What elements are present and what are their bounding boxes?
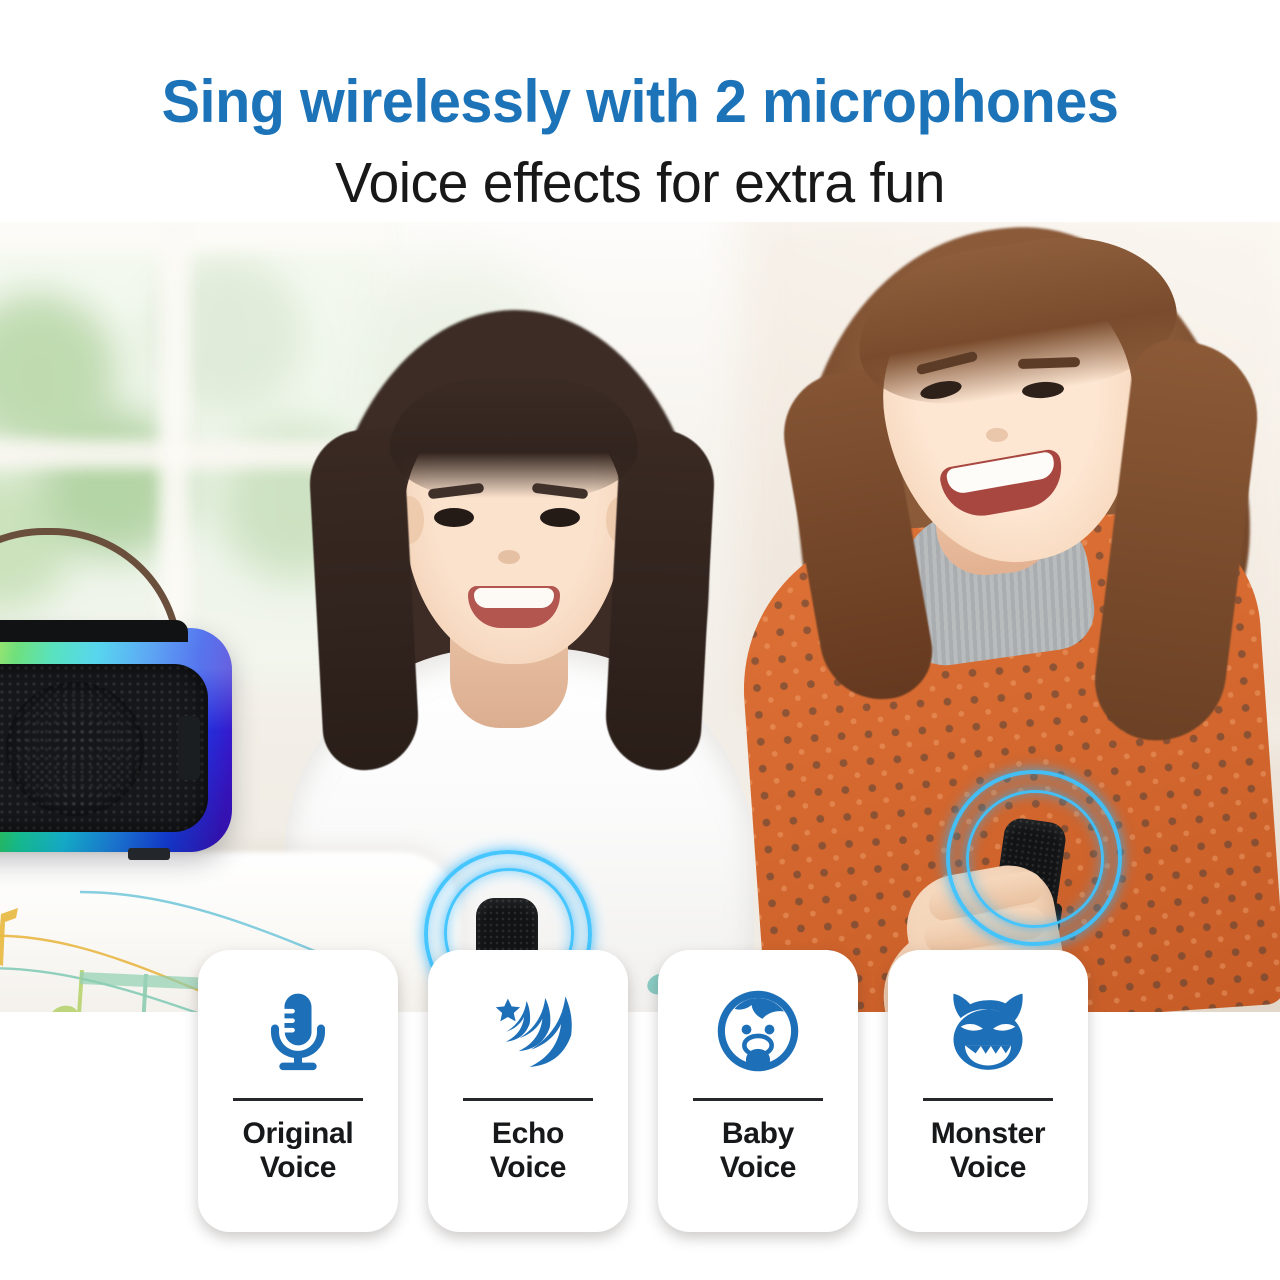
card-label-echo: Echo Voice — [490, 1117, 566, 1185]
card-label-line2: Voice — [260, 1151, 336, 1184]
card-label-original: Original Voice — [243, 1117, 354, 1185]
girl-hair-right — [603, 428, 717, 773]
product-feature-banner: Sing wirelessly with 2 microphones Voice… — [0, 0, 1280, 1280]
microphone-icon — [248, 976, 348, 1086]
echo-waves-icon — [478, 976, 578, 1086]
voice-effect-card-monster[interactable]: Monster Voice — [888, 950, 1088, 1232]
card-label-line1: Echo — [492, 1117, 564, 1150]
baby-face-icon — [708, 976, 808, 1086]
girl-eye-left — [434, 508, 474, 527]
page-title: Sing wirelessly with 2 microphones — [26, 70, 1255, 134]
card-label-line2: Voice — [720, 1151, 796, 1184]
card-label-line1: Monster — [931, 1117, 1046, 1150]
card-divider — [463, 1098, 593, 1101]
card-divider — [693, 1098, 823, 1101]
card-label-line1: Baby — [722, 1117, 794, 1150]
speaker-button-right[interactable] — [128, 848, 170, 860]
karaoke-speaker — [0, 620, 232, 870]
card-label-line2: Voice — [490, 1151, 566, 1184]
girl-bangs — [390, 378, 638, 498]
speaker-driver — [6, 682, 144, 816]
girl-eye-right — [540, 508, 580, 527]
page-subtitle: Voice effects for extra fun — [19, 152, 1261, 214]
monster-face-icon — [938, 976, 1038, 1086]
voice-effect-card-original[interactable]: Original Voice — [198, 950, 398, 1232]
lifestyle-photo — [0, 222, 1280, 1012]
girl-hair-left — [307, 428, 421, 773]
card-divider — [923, 1098, 1053, 1101]
card-label-line1: Original — [243, 1117, 354, 1150]
card-label-line2: Voice — [950, 1151, 1026, 1184]
card-divider — [233, 1098, 363, 1101]
girl-nose — [498, 550, 520, 564]
sound-ring-woman-inner — [966, 790, 1104, 928]
voice-effects-card-row: Original Voice Echo Voice — [198, 950, 1088, 1232]
voice-effect-card-baby[interactable]: Baby Voice — [658, 950, 858, 1232]
girl-teeth — [474, 588, 554, 608]
speaker-top-panel — [0, 620, 188, 642]
speaker-grille — [0, 664, 208, 832]
card-label-baby: Baby Voice — [720, 1117, 796, 1185]
speaker-side-port — [178, 716, 200, 780]
girl-mouth — [468, 586, 560, 628]
woman-nose — [986, 428, 1008, 442]
card-label-monster: Monster Voice — [931, 1117, 1046, 1185]
voice-effect-card-echo[interactable]: Echo Voice — [428, 950, 628, 1232]
